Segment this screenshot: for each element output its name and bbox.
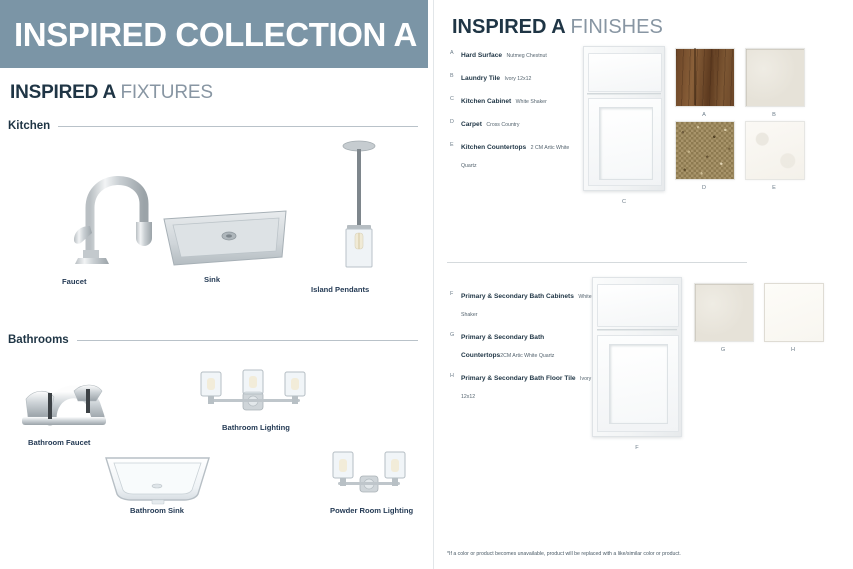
cabinet-door-front	[588, 98, 662, 186]
finish-swatch-b: B	[745, 48, 803, 105]
powder-room-lighting-caption: Powder Room Lighting	[330, 506, 413, 515]
legend-item: A Hard Surface Nutmeg Chestnut	[450, 44, 570, 62]
bath-cabinet-sample: F	[592, 277, 682, 437]
powder-light-icon	[330, 450, 408, 505]
page-banner: INSPIRED COLLECTION A	[0, 0, 428, 68]
finishes-column: INSPIRED A FINISHES A Hard Surface Nutme…	[440, 0, 853, 569]
legend-name: Laundry Tile	[461, 75, 500, 82]
cabinet-door-panel	[609, 344, 668, 424]
cabinet-reveal	[587, 93, 661, 95]
bathrooms-section-header: Bathrooms	[8, 334, 418, 346]
fixtures-heading: INSPIRED A FIXTURES	[10, 82, 213, 104]
finish-swatch-g: G	[694, 283, 752, 340]
kitchen-divider	[58, 126, 418, 127]
finish-swatch-d: D	[675, 121, 733, 178]
legend-name: Hard Surface	[461, 52, 502, 59]
legend-item: H Primary & Secondary Bath Floor Tile Iv…	[450, 367, 595, 403]
finish-swatch-h: H	[764, 283, 822, 340]
kitchen-sink-icon	[160, 205, 290, 273]
swatch-letter: G	[721, 347, 725, 353]
legend-name: Primary & Secondary Bath Cabinets	[461, 293, 574, 300]
kitchen-sink-caption: Sink	[204, 275, 220, 284]
kitchen-faucet-caption: Faucet	[62, 277, 86, 286]
quartz-texture	[745, 121, 805, 180]
legend-letter: E	[450, 136, 461, 148]
fixtures-column: INSPIRED COLLECTION A INSPIRED A FIXTURE…	[0, 0, 430, 569]
legend-letter: D	[450, 113, 461, 125]
kitchen-cabinet-sample: C	[583, 46, 665, 191]
legend-item: B Laundry Tile Ivory 12x12	[450, 67, 570, 85]
legend-letter: F	[450, 285, 461, 297]
legend-letter: B	[450, 67, 461, 79]
disclaimer-footnote: *If a color or product becomes unavailab…	[447, 551, 681, 557]
kitchen-faucet-icon	[62, 150, 172, 265]
page-title: INSPIRED COLLECTION A	[0, 18, 417, 51]
legend-name: Primary & Secondary Bath Countertops2CM …	[461, 334, 554, 359]
swatch-letter: A	[702, 112, 706, 118]
legend-name: Primary & Secondary Bath Floor Tile	[461, 375, 576, 382]
bathroom-sink-icon	[100, 450, 215, 505]
kitchen-section-label: Kitchen	[8, 120, 50, 132]
cabinet-frame	[583, 46, 665, 191]
bathrooms-section-label: Bathrooms	[8, 334, 69, 346]
cabinet-frame	[592, 277, 682, 437]
bathroom-faucet-caption: Bathroom Faucet	[28, 438, 90, 447]
finish-swatch-a: A	[675, 48, 733, 105]
legend-sub: Nutmeg Chestnut	[507, 53, 547, 59]
tile-texture	[745, 48, 805, 107]
fixtures-heading-bold: INSPIRED A	[10, 82, 115, 103]
swatch-letter: E	[772, 185, 776, 191]
cabinet-reveal	[597, 329, 678, 331]
cabinet-drawer-front	[588, 53, 662, 92]
column-divider	[433, 0, 434, 569]
finishes-heading-bold: INSPIRED A	[452, 16, 565, 38]
cabinet-letter: F	[635, 445, 638, 451]
legend-sub: Cross Country	[486, 122, 519, 128]
cabinet-door-front	[597, 335, 678, 432]
swatch-letter: D	[702, 185, 706, 191]
vanity-light-icon	[196, 366, 311, 421]
finish-swatch-e: E	[745, 121, 803, 178]
pendant-light-icon	[333, 133, 385, 278]
bathroom-faucet-icon	[12, 363, 117, 433]
legend-name: Kitchen Countertops	[461, 144, 526, 151]
finishes-heading: INSPIRED A FINISHES	[452, 16, 663, 39]
swatch-letter: B	[772, 112, 776, 118]
finishes-legend-bottom: F Primary & Secondary Bath Cabinets Whit…	[450, 285, 595, 408]
legend-name: Kitchen Cabinet	[461, 98, 511, 105]
cabinet-drawer-front	[597, 284, 678, 327]
swatch-letter: H	[791, 347, 795, 353]
bathrooms-divider	[77, 340, 418, 341]
bathroom-lighting-caption: Bathroom Lighting	[222, 423, 290, 432]
legend-item: D Carpet Cross Country	[450, 113, 570, 131]
island-pendants-caption: Island Pendants	[311, 285, 369, 294]
legend-item: G Primary & Secondary Bath Countertops2C…	[450, 326, 595, 362]
finishes-legend-top: A Hard Surface Nutmeg Chestnut B Laundry…	[450, 44, 570, 177]
wood-texture	[675, 48, 735, 107]
finishes-section-divider	[447, 262, 747, 263]
fixtures-heading-light: FIXTURES	[120, 82, 212, 103]
legend-item: F Primary & Secondary Bath Cabinets Whit…	[450, 285, 595, 321]
cabinet-door-panel	[599, 107, 653, 179]
legend-item: E Kitchen Countertops 2 CM Artic White Q…	[450, 136, 570, 172]
legend-sub: 2CM Artic White Quartz	[500, 353, 554, 359]
legend-letter: C	[450, 90, 461, 102]
legend-letter: A	[450, 44, 461, 56]
finishes-heading-light: FINISHES	[571, 16, 663, 38]
legend-item: C Kitchen Cabinet White Shaker	[450, 90, 570, 108]
bathroom-sink-caption: Bathroom Sink	[130, 506, 184, 515]
legend-sub: White Shaker	[516, 99, 547, 105]
legend-sub: Ivory 12x12	[505, 76, 532, 82]
legend-letter: G	[450, 326, 461, 338]
carpet-texture	[675, 121, 735, 180]
quartz-texture	[764, 283, 824, 342]
tile-texture	[694, 283, 754, 342]
spec-sheet-page: INSPIRED COLLECTION A INSPIRED A FIXTURE…	[0, 0, 853, 569]
kitchen-section-header: Kitchen	[8, 120, 418, 132]
legend-name: Carpet	[461, 121, 482, 128]
legend-letter: H	[450, 367, 461, 379]
cabinet-letter: C	[622, 199, 626, 205]
